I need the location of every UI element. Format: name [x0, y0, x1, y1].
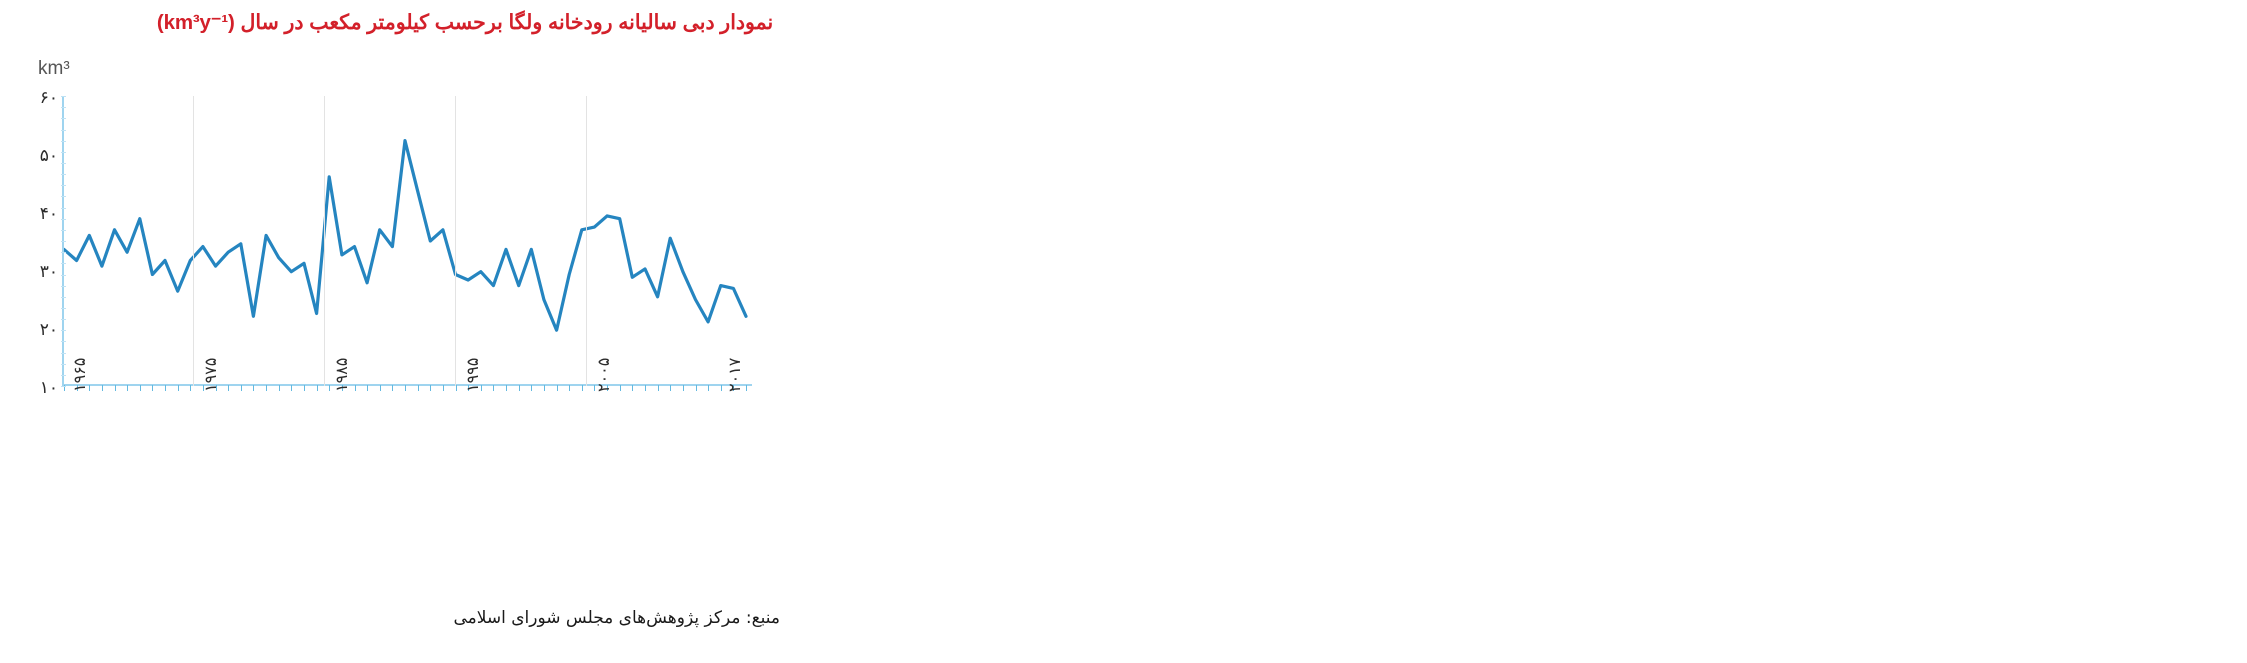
left-xtick-mark: [165, 385, 166, 391]
right-chart-panel: نمودار منحنی تراز آب دریای خزر در طی اند…: [1140, 0, 2247, 663]
left-xtick-mark: [456, 385, 457, 391]
left-xtick-mark: [367, 385, 368, 391]
left-xtick-mark: [544, 385, 545, 391]
left-xtick-mark: [140, 385, 141, 391]
left-ytick-mark: [61, 263, 66, 264]
left-ytick-mark: [61, 252, 66, 253]
left-ytick-mark: [61, 386, 66, 387]
left-ytick-mark: [61, 308, 66, 309]
left-ytick-mark: [61, 230, 66, 231]
left-xtick-mark: [329, 385, 330, 391]
left-xtick-mark: [746, 385, 747, 391]
left-ytick-mark: [61, 375, 66, 376]
left-xtick-mark: [696, 385, 697, 391]
left-xtick-1985: ۱۹۸۵: [332, 358, 351, 392]
left-ytick-50: ۵۰: [40, 146, 58, 166]
left-ytick-mark: [61, 185, 66, 186]
left-ytick-mark: [61, 96, 66, 97]
left-ytick-mark: [61, 219, 66, 220]
left-chart-panel: نمودار دبی سالیانه رودخانه ولگا برحسب کی…: [0, 0, 1140, 663]
left-y-axis-labels: ۶۰ ۵۰ ۴۰ ۳۰ ۲۰ ۱۰: [0, 96, 58, 396]
left-line-series: [62, 96, 752, 386]
left-xtick-mark: [115, 385, 116, 391]
left-xtick-mark: [645, 385, 646, 391]
left-xtick-mark: [89, 385, 90, 391]
left-xtick-mark: [190, 385, 191, 391]
left-xtick-mark: [127, 385, 128, 391]
left-xtick-mark: [531, 385, 532, 391]
left-ytick-mark: [61, 141, 66, 142]
left-xtick-mark: [291, 385, 292, 391]
left-ytick-mark: [61, 330, 66, 331]
left-x-axis-labels: ۱۹۶۵ ۱۹۷۵ ۱۹۸۵ ۱۹۹۵ ۲۰۰۵ ۲۰۱۷: [62, 392, 762, 472]
left-xtick-mark: [721, 385, 722, 391]
left-xtick-1975: ۱۹۷۵: [201, 358, 220, 392]
left-ytick-10: ۱۰: [40, 378, 58, 398]
left-ytick-mark: [61, 163, 66, 164]
left-ytick-mark: [61, 364, 66, 365]
left-xtick-mark: [670, 385, 671, 391]
left-ytick-mark: [61, 208, 66, 209]
left-xtick-mark: [392, 385, 393, 391]
left-xtick-mark: [355, 385, 356, 391]
left-xtick-mark: [228, 385, 229, 391]
left-gridline-1985: [324, 96, 325, 386]
left-gridline-1975: [193, 96, 194, 386]
left-xtick-mark: [241, 385, 242, 391]
left-ytick-mark: [61, 341, 66, 342]
left-xtick-mark: [152, 385, 153, 391]
left-xtick-mark: [506, 385, 507, 391]
left-ytick-mark: [61, 196, 66, 197]
left-xtick-mark: [683, 385, 684, 391]
left-xtick-mark: [632, 385, 633, 391]
left-xtick-mark: [253, 385, 254, 391]
left-ytick-40: ۴۰: [40, 204, 58, 224]
left-xtick-1965: ۱۹۶۵: [70, 358, 89, 392]
left-xtick-mark: [708, 385, 709, 391]
left-xtick-mark: [102, 385, 103, 391]
left-xtick-mark: [430, 385, 431, 391]
left-xtick-mark: [380, 385, 381, 391]
left-xtick-mark: [569, 385, 570, 391]
left-ytick-mark: [61, 118, 66, 119]
left-ytick-mark: [61, 353, 66, 354]
left-ytick-mark: [61, 130, 66, 131]
left-source-caption: منبع: مرکز پژوهش‌های مجلس شورای اسلامی: [20, 608, 780, 628]
left-gridline-2005: [586, 96, 587, 386]
left-ytick-mark: [61, 152, 66, 153]
left-xtick-mark: [493, 385, 494, 391]
left-xtick-2005: ۲۰۰۵: [594, 358, 613, 392]
left-plot-area: [62, 96, 752, 386]
left-xtick-mark: [620, 385, 621, 391]
left-ytick-mark: [61, 174, 66, 175]
left-chart-title: نمودار دبی سالیانه رودخانه ولگا برحسب کی…: [120, 8, 810, 38]
left-y-unit-label: km³: [38, 58, 70, 80]
left-xtick-2017: ۲۰۱۷: [725, 358, 744, 392]
left-ytick-mark: [61, 275, 66, 276]
left-xtick-mark: [266, 385, 267, 391]
left-xtick-mark: [418, 385, 419, 391]
left-ytick-mark: [61, 319, 66, 320]
left-gridline-1995: [455, 96, 456, 386]
left-ytick-60: ۶۰: [40, 88, 58, 108]
left-xtick-mark: [582, 385, 583, 391]
left-xtick-mark: [519, 385, 520, 391]
left-xtick-mark: [405, 385, 406, 391]
left-xtick-mark: [443, 385, 444, 391]
left-ytick-mark: [61, 107, 66, 108]
left-ytick-20: ۲۰: [40, 320, 58, 340]
figure-pair: نمودار دبی سالیانه رودخانه ولگا برحسب کی…: [0, 0, 2247, 663]
left-xtick-mark: [658, 385, 659, 391]
left-xtick-mark: [304, 385, 305, 391]
left-ytick-mark: [61, 241, 66, 242]
left-xtick-1995: ۱۹۹۵: [463, 358, 482, 392]
left-ytick-mark: [61, 286, 66, 287]
left-ytick-30: ۳۰: [40, 262, 58, 282]
left-xtick-mark: [279, 385, 280, 391]
left-xtick-mark: [317, 385, 318, 391]
left-xtick-mark: [178, 385, 179, 391]
left-xtick-mark: [557, 385, 558, 391]
left-ytick-mark: [61, 297, 66, 298]
